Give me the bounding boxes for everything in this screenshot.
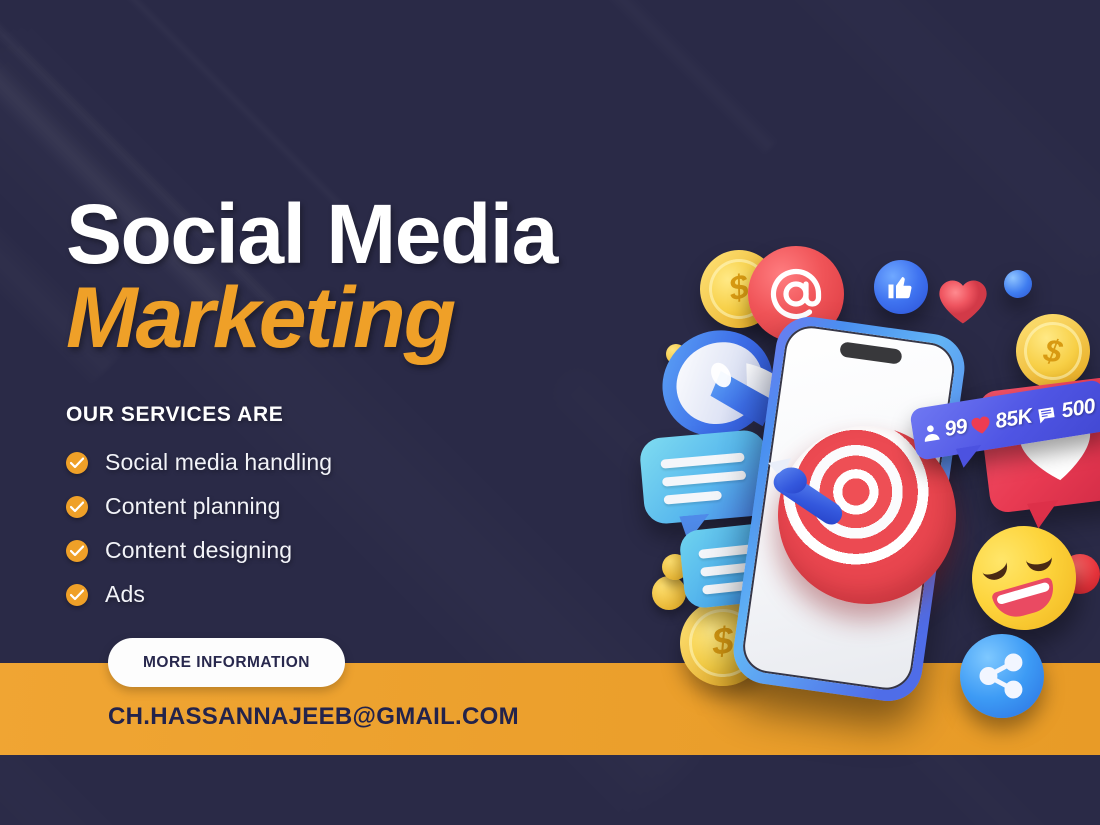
- person-icon: [920, 421, 943, 444]
- coin-symbol: $: [1020, 318, 1087, 385]
- services-list: Social media handling Content planning C…: [66, 449, 676, 608]
- check-circle-icon: [66, 496, 88, 518]
- list-item: Ads: [66, 581, 676, 608]
- services-heading: OUR SERVICES ARE: [66, 403, 676, 427]
- check-circle-icon: [66, 584, 88, 606]
- heart-icon: [936, 276, 990, 326]
- social-media-3d-illustration: $ $ $: [636, 236, 1100, 706]
- more-information-button[interactable]: MORE INFORMATION: [108, 638, 345, 687]
- headline-block: Social Media Marketing OUR SERVICES ARE …: [66, 196, 676, 625]
- laughing-emoji-icon: [960, 514, 1089, 643]
- share-network-icon: [960, 634, 1044, 718]
- service-label: Content designing: [105, 537, 292, 564]
- blue-sphere-icon: [1004, 270, 1032, 298]
- comments-count: 500: [1060, 395, 1097, 424]
- service-label: Social media handling: [105, 449, 332, 476]
- heart-icon: [969, 413, 993, 435]
- comment-icon: [1034, 402, 1059, 425]
- followers-count: 99: [943, 415, 969, 442]
- thumbs-up-icon: [874, 260, 928, 314]
- list-item: Social media handling: [66, 449, 676, 476]
- check-circle-icon: [66, 452, 88, 474]
- list-item: Content planning: [66, 493, 676, 520]
- check-circle-icon: [66, 540, 88, 562]
- service-label: Ads: [105, 581, 145, 608]
- service-label: Content planning: [105, 493, 281, 520]
- phone-speaker-notch: [839, 341, 902, 364]
- likes-count: 85K: [994, 405, 1034, 434]
- dart-icon: [751, 446, 882, 546]
- list-item: Content designing: [66, 537, 676, 564]
- headline-line-2: Marketing: [66, 275, 676, 361]
- contact-email[interactable]: CH.HASSANNAJEEB@GMAIL.COM: [108, 703, 519, 731]
- banner-canvas: $ $ $: [0, 0, 1100, 825]
- headline-line-1: Social Media: [66, 196, 676, 273]
